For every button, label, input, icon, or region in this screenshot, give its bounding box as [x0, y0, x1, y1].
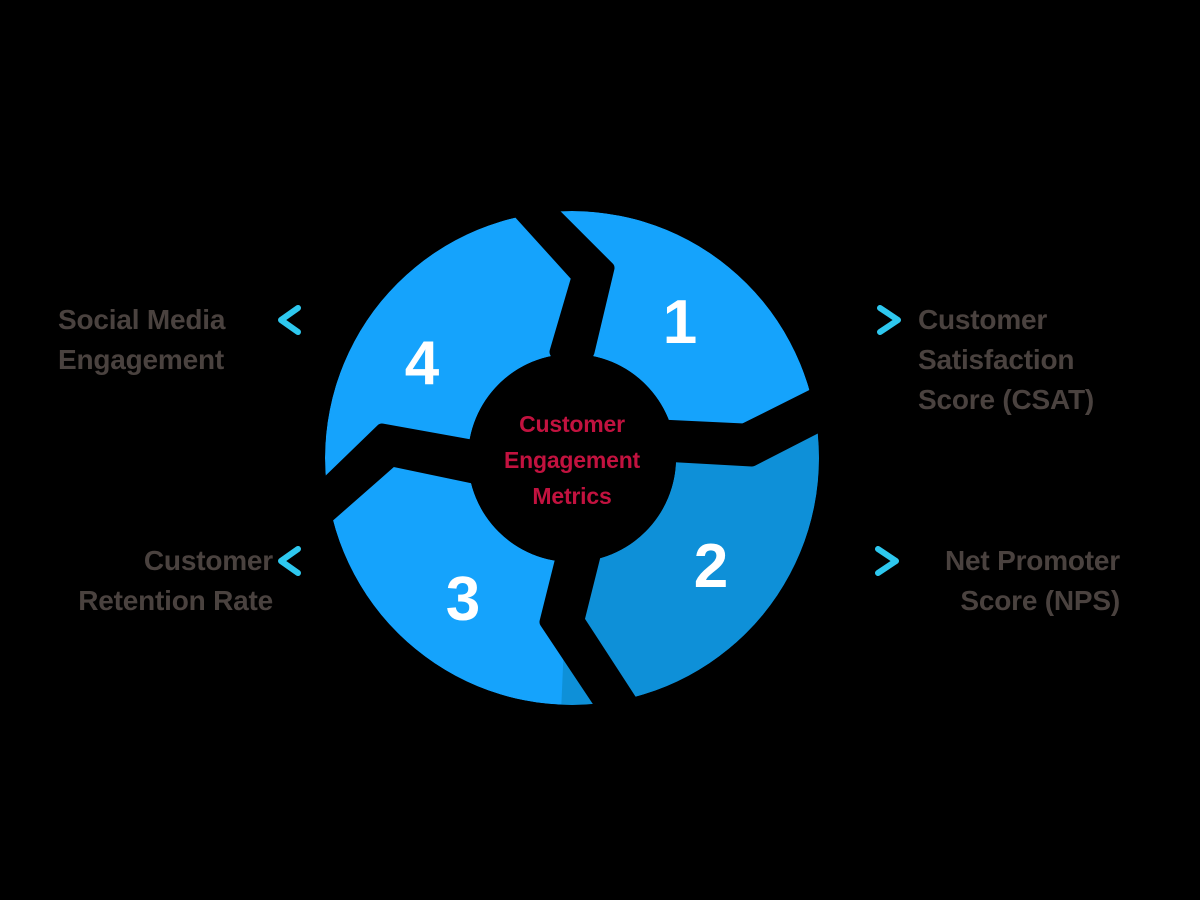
segment-number-1: 1	[645, 292, 715, 354]
segment-number-3: 3	[428, 569, 498, 631]
label-customer-retention-rate[interactable]: Customer Retention Rate	[30, 541, 273, 621]
label-net-promoter-score[interactable]: Net Promoter Score (NPS)	[860, 541, 1120, 621]
label-social-media-engagement[interactable]: Social Media Engagement	[58, 300, 288, 380]
segment-number-2: 2	[676, 536, 746, 598]
diagram-canvas: 1 2 3 4 Customer Engagement Metrics Soci…	[0, 0, 1200, 900]
segment-number-4: 4	[387, 333, 457, 395]
center-title: Customer Engagement Metrics	[472, 406, 672, 514]
label-customer-satisfaction-score[interactable]: Customer Satisfaction Score (CSAT)	[918, 300, 1180, 420]
